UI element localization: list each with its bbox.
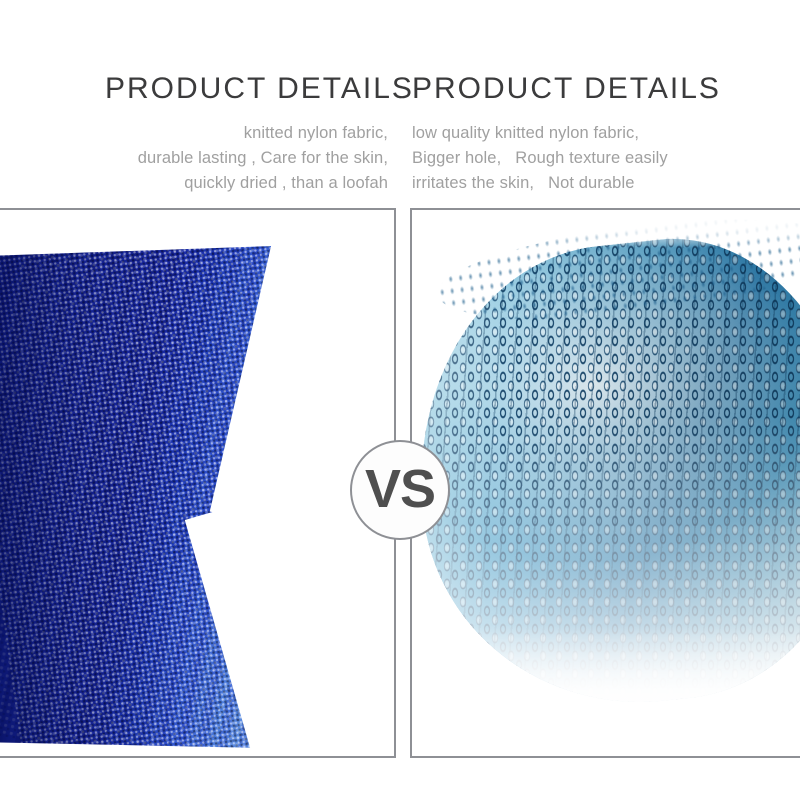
right-product-image-panel [410, 208, 800, 758]
left-product-description: knitted nylon fabric, durable lasting , … [60, 121, 390, 196]
versus-badge-label: VS [365, 462, 435, 516]
bottom-margin [0, 758, 800, 800]
left-product-image-panel [0, 208, 396, 758]
right-product-details-column: PRODUCT DETAILS low quality knitted nylo… [410, 0, 740, 196]
right-product-description: low quality knitted nylon fabric, Bigger… [410, 121, 740, 196]
right-net-photo [412, 210, 800, 756]
versus-badge: VS [350, 440, 450, 540]
net-top-fade [412, 210, 800, 248]
details-text-band: PRODUCT DETAILS knitted nylon fabric, du… [0, 0, 800, 206]
right-page-title: PRODUCT DETAILS [412, 74, 740, 104]
left-page-title: PRODUCT DETAILS [105, 74, 390, 104]
left-product-details-column: PRODUCT DETAILS knitted nylon fabric, du… [60, 0, 390, 196]
net-bottom-fade [412, 625, 800, 756]
left-fabric-photo [0, 210, 394, 756]
